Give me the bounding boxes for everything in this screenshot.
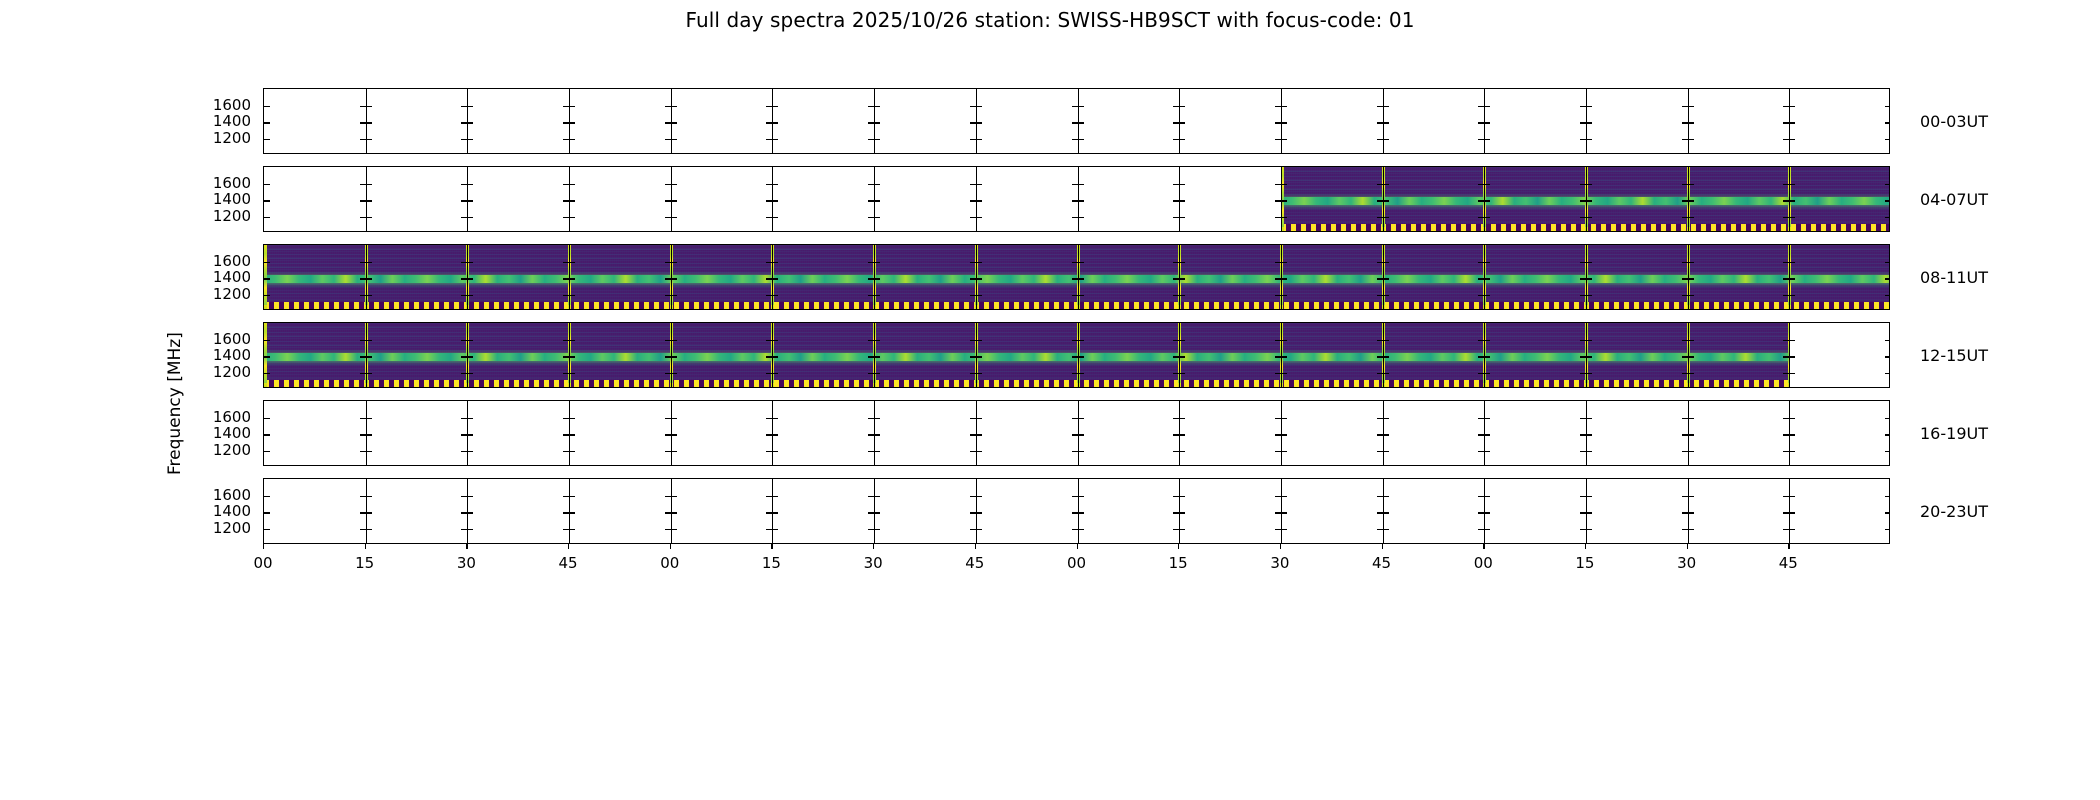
y-tick-mark [976,139,982,140]
subplot-separator [366,323,367,387]
x-tick-mark [771,544,772,549]
y-tick-mark [467,262,473,263]
y-tick-mark [366,529,372,530]
subplot-separator [1179,89,1180,153]
subplot-separator [1383,89,1384,153]
y-tick-mark [1885,356,1890,357]
x-tick-mark [1483,544,1484,549]
y-tick-mark [1586,122,1592,123]
y-tick-mark [569,496,575,497]
y-tick-mark [874,434,880,435]
y-tick-mark [1688,496,1694,497]
y-tick-label: 1400 [185,504,251,519]
subplot-separator [569,479,570,543]
y-tick-mark [1688,139,1694,140]
x-tick-label: 15 [335,554,395,572]
y-tick-mark [1383,106,1389,107]
y-tick-mark [1281,418,1287,419]
y-tick-mark [1484,356,1490,357]
y-tick-label: 1600 [185,98,251,113]
x-tick-label: 30 [1250,554,1310,572]
y-tick-mark [1078,278,1084,279]
y-tick-mark [569,340,575,341]
x-tick-mark [1788,544,1789,549]
subplot-separator [874,89,875,153]
subplot-separator [569,245,570,309]
subplot-separator [1179,479,1180,543]
y-tick-mark [569,262,575,263]
y-tick-mark [1281,356,1287,357]
subplot-separator [772,89,773,153]
subplot-separator [671,479,672,543]
y-tick-mark [264,512,270,513]
subplot-separator [467,167,468,231]
x-tick-mark [568,544,569,549]
y-tick-mark [1383,434,1389,435]
y-tick-label: 1200 [185,521,251,536]
y-tick-label: 1400 [185,348,251,363]
y-tick-mark [1789,262,1795,263]
subplot-separator [1688,89,1689,153]
subplot-separator [1383,167,1384,231]
y-tick-mark [366,295,372,296]
y-tick-mark [976,262,982,263]
y-tick-mark [976,418,982,419]
row-label-16-19ut: 16-19UT [1920,424,1988,443]
subplot-separator [1586,401,1587,465]
subplot-separator [1281,89,1282,153]
subplot-separator [1789,89,1790,153]
subplot-separator [467,401,468,465]
y-tick-mark [1078,217,1084,218]
y-tick-mark [1078,139,1084,140]
y-tick-mark [671,340,677,341]
y-tick-mark [1281,217,1287,218]
y-tick-mark [976,184,982,185]
y-tick-mark [671,496,677,497]
y-tick-mark [467,122,473,123]
y-tick-mark [264,139,270,140]
y-tick-mark [1789,434,1795,435]
y-tick-mark [1885,451,1890,452]
subplot-separator [772,401,773,465]
x-tick-mark [1382,544,1383,549]
y-tick-mark [671,278,677,279]
y-tick-mark [874,200,880,201]
page-title: Full day spectra 2025/10/26 station: SWI… [0,8,2100,32]
spectrogram-data [264,323,1789,387]
y-tick-mark [1383,278,1389,279]
y-tick-mark [1484,434,1490,435]
y-tick-mark [976,295,982,296]
y-tick-label: 1600 [185,410,251,425]
y-tick-mark [976,451,982,452]
subplot-separator [1281,479,1282,543]
y-tick-mark [1688,200,1694,201]
y-tick-mark [1789,529,1795,530]
y-tick-mark [1885,418,1890,419]
y-tick-mark [366,418,372,419]
subplot-separator [366,479,367,543]
y-tick-mark [1179,217,1185,218]
y-tick-mark [569,451,575,452]
subplot-separator [1688,245,1689,309]
y-tick-label: 1400 [185,270,251,285]
subplot-separator [569,323,570,387]
y-tick-label: 1400 [185,114,251,129]
y-tick-mark [1885,295,1890,296]
y-tick-mark [976,512,982,513]
y-tick-mark [1688,340,1694,341]
y-tick-mark [1281,434,1287,435]
subplot-separator [976,323,977,387]
subplot-separator [569,89,570,153]
y-tick-mark [366,512,372,513]
y-tick-mark [569,529,575,530]
y-tick-mark [976,373,982,374]
y-tick-mark [772,106,778,107]
subplot-separator [976,479,977,543]
y-tick-mark [1281,451,1287,452]
y-tick-mark [1383,139,1389,140]
y-tick-mark [569,295,575,296]
x-tick-mark [263,544,264,549]
y-tick-mark [1078,529,1084,530]
y-tick-mark [874,106,880,107]
x-tick-mark [1585,544,1586,549]
y-tick-mark [671,434,677,435]
y-tick-mark [1281,184,1287,185]
y-tick-mark [366,139,372,140]
subplot-separator [1789,323,1790,387]
y-tick-mark [1885,200,1890,201]
y-tick-mark [1789,418,1795,419]
x-tick-mark [670,544,671,549]
subplot-separator [671,245,672,309]
y-tick-mark [1383,295,1389,296]
y-tick-mark [264,200,270,201]
y-tick-label: 1200 [185,131,251,146]
y-tick-mark [1586,434,1592,435]
y-tick-mark [1885,434,1890,435]
y-tick-mark [366,184,372,185]
x-tick-label: 30 [436,554,496,572]
y-tick-label: 1600 [185,332,251,347]
y-tick-mark [671,262,677,263]
y-tick-mark [1885,278,1890,279]
subplot-separator [671,167,672,231]
subplot-separator [1179,323,1180,387]
x-tick-label: 15 [1148,554,1208,572]
y-tick-mark [1484,278,1490,279]
y-tick-mark [264,217,270,218]
y-tick-mark [874,451,880,452]
y-tick-mark [1789,122,1795,123]
y-tick-mark [976,496,982,497]
y-tick-mark [772,418,778,419]
y-tick-mark [1078,434,1084,435]
y-tick-mark [671,512,677,513]
y-tick-mark [1383,356,1389,357]
y-tick-mark [976,434,982,435]
x-tick-mark [1687,544,1688,549]
subplot-separator [976,401,977,465]
x-tick-mark [466,544,467,549]
y-tick-mark [366,356,372,357]
subplot-separator [1688,323,1689,387]
y-tick-mark [467,512,473,513]
x-tick-label: 30 [843,554,903,572]
y-tick-mark [467,184,473,185]
subplot-separator [671,401,672,465]
y-tick-mark [671,373,677,374]
y-tick-mark [1586,200,1592,201]
y-tick-mark [366,122,372,123]
subplot-separator [1586,323,1587,387]
subplot-separator [366,245,367,309]
y-tick-mark [569,418,575,419]
x-tick-mark [365,544,366,549]
y-tick-mark [1078,512,1084,513]
y-tick-mark [874,373,880,374]
y-tick-mark [772,295,778,296]
y-tick-label: 1200 [185,287,251,302]
y-tick-mark [264,529,270,530]
y-tick-mark [1078,262,1084,263]
y-tick-mark [772,451,778,452]
x-tick-label: 30 [1657,554,1717,572]
x-tick-label: 45 [1352,554,1412,572]
y-tick-mark [1281,262,1287,263]
y-tick-mark [1078,106,1084,107]
y-tick-mark [1383,512,1389,513]
subplot-separator [1484,401,1485,465]
y-tick-mark [1688,106,1694,107]
subplot-separator [1484,167,1485,231]
y-tick-mark [671,184,677,185]
y-tick-mark [1484,512,1490,513]
y-tick-mark [467,496,473,497]
spectrogram-streaks-upper [264,324,1789,355]
spectrogram-row-04-07ut [263,166,1890,232]
subplot-separator [1586,479,1587,543]
subplot-separator [1281,401,1282,465]
y-tick-mark [1383,122,1389,123]
y-tick-mark [1885,122,1890,123]
y-tick-label: 1200 [185,443,251,458]
y-tick-mark [976,200,982,201]
y-tick-mark [1688,217,1694,218]
y-tick-mark [1789,278,1795,279]
subplot-separator [1281,323,1282,387]
y-tick-mark [976,106,982,107]
y-tick-mark [264,418,270,419]
y-tick-mark [1789,106,1795,107]
y-tick-mark [569,512,575,513]
subplot-separator [1688,167,1689,231]
x-tick-mark [1280,544,1281,549]
subplot-separator [1586,245,1587,309]
y-tick-mark [772,356,778,357]
y-tick-mark [1885,373,1890,374]
y-tick-mark [1484,418,1490,419]
y-tick-mark [1179,373,1185,374]
subplot-separator [1484,479,1485,543]
y-tick-mark [1484,262,1490,263]
y-tick-mark [1688,451,1694,452]
subplot-separator [874,479,875,543]
subplot-separator [1586,167,1587,231]
y-tick-mark [1078,122,1084,123]
y-tick-mark [1281,278,1287,279]
y-tick-mark [772,373,778,374]
y-tick-mark [671,139,677,140]
subplot-separator [1078,245,1079,309]
y-tick-mark [1586,451,1592,452]
y-tick-mark [1179,295,1185,296]
y-tick-mark [264,295,270,296]
y-tick-mark [467,356,473,357]
subplot-separator [1789,401,1790,465]
y-tick-mark [1586,295,1592,296]
subplot-separator [1789,245,1790,309]
subplot-separator [467,245,468,309]
x-tick-label: 15 [1555,554,1615,572]
y-tick-mark [671,106,677,107]
x-tick-label: 00 [1453,554,1513,572]
y-tick-mark [772,139,778,140]
subplot-separator [1688,479,1689,543]
y-tick-mark [1885,529,1890,530]
y-tick-mark [1688,122,1694,123]
y-axis-label: Frequency [MHz] [165,332,185,475]
row-label-20-23ut: 20-23UT [1920,502,1988,521]
emission-band-1420 [264,353,1789,361]
y-tick-mark [1179,200,1185,201]
y-tick-mark [264,451,270,452]
subplot-separator [874,245,875,309]
subplot-separator [976,167,977,231]
y-tick-mark [467,200,473,201]
y-tick-mark [772,512,778,513]
y-tick-mark [1586,356,1592,357]
subplot-separator [1179,167,1180,231]
y-tick-mark [772,434,778,435]
y-tick-mark [1885,184,1890,185]
y-tick-mark [1484,496,1490,497]
y-tick-mark [1078,418,1084,419]
y-tick-mark [1586,512,1592,513]
y-tick-mark [1789,184,1795,185]
subplot-separator [467,479,468,543]
y-tick-mark [1586,106,1592,107]
y-tick-mark [976,529,982,530]
subplot-separator [976,245,977,309]
x-tick-label: 45 [538,554,598,572]
subplot-separator [1078,167,1079,231]
subplot-separator [1484,245,1485,309]
y-tick-mark [1179,122,1185,123]
y-tick-mark [1179,496,1185,497]
y-tick-mark [874,217,880,218]
y-tick-mark [874,418,880,419]
y-tick-mark [1885,139,1890,140]
y-tick-label: 1200 [185,365,251,380]
y-tick-mark [1885,340,1890,341]
y-tick-mark [671,122,677,123]
y-tick-mark [1789,340,1795,341]
y-tick-mark [1179,512,1185,513]
y-tick-mark [1383,529,1389,530]
y-tick-mark [1586,278,1592,279]
y-tick-mark [671,418,677,419]
subplot-separator [874,401,875,465]
y-tick-mark [1586,217,1592,218]
y-tick-mark [366,496,372,497]
y-tick-mark [366,434,372,435]
y-tick-mark [1688,356,1694,357]
y-tick-mark [1484,106,1490,107]
y-tick-mark [467,529,473,530]
y-tick-mark [976,278,982,279]
y-tick-mark [1383,373,1389,374]
y-tick-mark [1586,496,1592,497]
y-tick-mark [1078,373,1084,374]
subplot-separator [1383,323,1384,387]
y-tick-mark [874,340,880,341]
y-tick-mark [1281,139,1287,140]
y-tick-mark [467,340,473,341]
subplot-separator [1789,479,1790,543]
y-tick-mark [366,340,372,341]
y-tick-mark [467,139,473,140]
y-tick-mark [1281,295,1287,296]
y-tick-mark [569,434,575,435]
y-tick-mark [874,262,880,263]
x-tick-label: 00 [233,554,293,572]
y-tick-mark [1484,184,1490,185]
y-tick-mark [874,122,880,123]
y-tick-mark [264,496,270,497]
calibration-stripe [264,245,267,309]
y-tick-label: 1600 [185,254,251,269]
y-tick-mark [1078,184,1084,185]
subplot-separator [1383,479,1384,543]
y-tick-mark [1688,512,1694,513]
y-tick-mark [1688,278,1694,279]
spectrogram-row-16-19ut [263,400,1890,466]
y-tick-mark [976,356,982,357]
subplot-separator [772,167,773,231]
x-tick-label: 45 [945,554,1005,572]
y-tick-mark [772,529,778,530]
y-tick-mark [1383,217,1389,218]
y-tick-mark [1586,529,1592,530]
y-tick-mark [1484,122,1490,123]
y-tick-mark [1688,418,1694,419]
subplot-separator [1383,245,1384,309]
y-tick-mark [1179,529,1185,530]
row-label-08-11ut: 08-11UT [1920,268,1988,287]
y-tick-mark [874,496,880,497]
x-tick-mark [873,544,874,549]
y-tick-mark [1484,529,1490,530]
y-tick-mark [671,295,677,296]
x-tick-label: 00 [640,554,700,572]
y-tick-mark [1281,512,1287,513]
y-tick-mark [1179,418,1185,419]
subplot-separator [1484,323,1485,387]
